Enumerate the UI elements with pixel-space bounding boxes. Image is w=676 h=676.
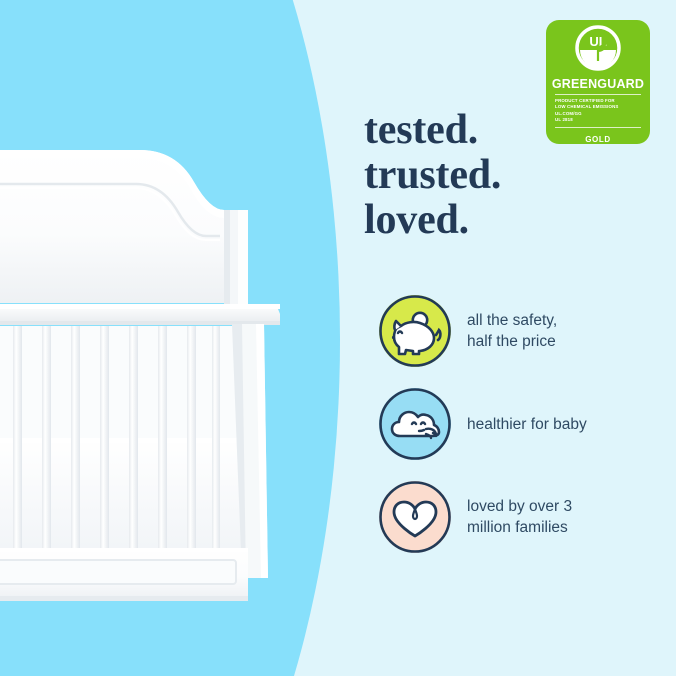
feature-item-healthier: healthier for baby (379, 386, 669, 462)
piggy-bank-icon (379, 295, 451, 367)
crib-product-image (0, 108, 300, 613)
promotional-banner: UL GREENGUARD PRODUCT CERTIFIED FOR LOW … (0, 0, 676, 676)
badge-divider (555, 94, 641, 95)
headline: tested. trusted. loved. (364, 108, 654, 243)
badge-title: GREENGUARD (552, 77, 644, 91)
feature-list: all the safety, half the price healthie (379, 293, 669, 572)
feature-safety-line-1: all the safety, (467, 310, 557, 331)
headline-line-2: trusted. (364, 153, 654, 198)
feature-loved-line-1: loved by over 3 (467, 496, 572, 517)
cloud-blowing-icon (379, 388, 451, 460)
feature-loved-line-2: million families (467, 517, 572, 538)
ul-leaf-mark-icon: UL (575, 25, 621, 76)
feature-item-loved: loved by over 3 million families (379, 479, 669, 555)
feature-healthier-line-1: healthier for baby (467, 414, 587, 435)
heart-icon (379, 481, 451, 553)
feature-item-safety: all the safety, half the price (379, 293, 669, 369)
feature-text-healthier: healthier for baby (467, 414, 587, 435)
feature-safety-line-2: half the price (467, 331, 557, 352)
feature-text-loved: loved by over 3 million families (467, 496, 572, 538)
headline-line-1: tested. (364, 108, 654, 153)
feature-text-safety: all the safety, half the price (467, 310, 557, 352)
headline-line-3: loved. (364, 198, 654, 243)
